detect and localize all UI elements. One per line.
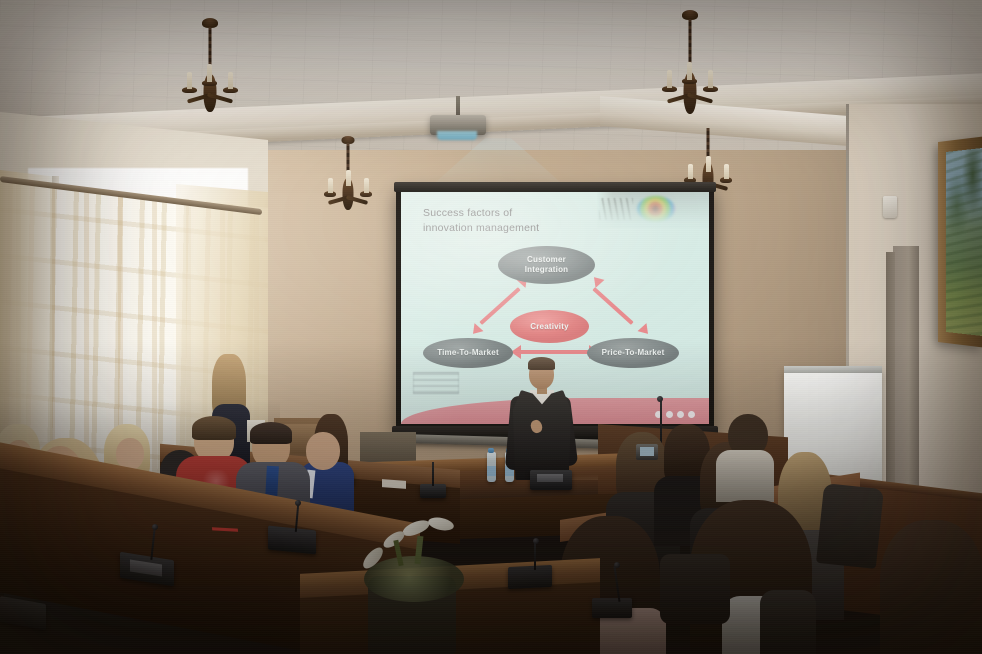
- slide-dot: [666, 411, 673, 418]
- microphone-console[interactable]: [508, 565, 552, 589]
- chandelier-candle-bulb: [328, 178, 333, 193]
- chandelier: [320, 136, 376, 226]
- chandelier-candle-bulb: [187, 72, 192, 89]
- diagram-node-price-to-market: Price-To-Market: [587, 338, 679, 368]
- audience-head-foreground: [880, 520, 982, 654]
- chandelier-candle-bulb: [688, 164, 693, 179]
- microphone-stem: [660, 400, 662, 446]
- camera-screen: [640, 447, 654, 456]
- node-label: Creativity: [530, 322, 568, 332]
- microphone-head: [657, 396, 663, 402]
- painting-foliage: [946, 148, 982, 336]
- wall-speaker-box: [883, 196, 897, 218]
- chandelier-candle-bulb: [207, 64, 212, 82]
- audience-light-blouse: [716, 450, 774, 502]
- microphone-console[interactable]: [268, 525, 316, 554]
- doorway-recess-shadow: [886, 252, 895, 496]
- chandelier: [175, 18, 245, 128]
- slide-title-line-1: Success factors of: [423, 206, 613, 221]
- microphone-console[interactable]: [592, 598, 632, 618]
- projector-lens-icon: [437, 131, 477, 140]
- node-label: Time-To-Market: [437, 348, 499, 358]
- node-label-line-2: Integration: [525, 265, 569, 274]
- audience-hair: [250, 422, 292, 444]
- chandelier-candle-bulb: [364, 178, 369, 193]
- eye-photo-fade: [597, 192, 709, 228]
- arrow-head: [469, 323, 484, 338]
- microphone-head: [614, 562, 620, 568]
- slide-title-line-2: innovation management: [423, 221, 613, 236]
- chandelier-candle-bulb: [708, 70, 713, 88]
- arrow-head: [638, 323, 653, 338]
- chandelier-candle-bulb: [706, 156, 711, 172]
- microphone-head: [533, 538, 539, 544]
- microphone-head: [152, 524, 158, 530]
- chair-back: [816, 483, 884, 569]
- diagram-node-customer-integration: Customer Integration: [498, 246, 595, 284]
- slide-dot: [677, 411, 684, 418]
- screen-top-bar: [394, 182, 716, 192]
- node-label: Price-To-Market: [602, 348, 665, 358]
- chandelier-candle-bulb: [724, 164, 729, 179]
- node-label-line-1: Customer: [527, 255, 566, 264]
- arrow-head: [590, 273, 605, 288]
- microphone-console[interactable]: [420, 484, 446, 498]
- photo-scene: Success factors of innovation management…: [0, 0, 982, 654]
- arrow-time-to-market-to-price-to-market: [519, 350, 591, 354]
- slide-title: Success factors of innovation management: [423, 206, 613, 236]
- microphone-console-panel: [537, 474, 563, 482]
- chandelier-candle-bulb: [687, 62, 692, 80]
- audience-head: [306, 432, 340, 470]
- bottle-label: [487, 466, 496, 476]
- flipchart-clamp: [784, 366, 882, 373]
- audience-torso: [760, 590, 816, 654]
- slide-eye-photo-icon: [597, 192, 709, 228]
- doorway-recess: [893, 246, 919, 496]
- microphone-stem: [534, 542, 536, 570]
- notepad: [382, 479, 406, 489]
- chandelier-candle-bulb: [667, 70, 672, 88]
- microphone-stem: [432, 462, 434, 486]
- microphone-head: [295, 500, 301, 506]
- chair-back: [660, 554, 730, 624]
- slide-dot: [688, 411, 695, 418]
- chandelier-candle-bulb: [228, 72, 233, 89]
- diagram-node-time-to-market: Time-To-Market: [423, 338, 513, 368]
- audience-hair: [192, 416, 236, 440]
- diagram-node-creativity: Creativity: [510, 310, 589, 343]
- slide-corner-logo: [413, 372, 459, 394]
- bottle-cap: [488, 448, 494, 453]
- chandelier: [655, 10, 725, 130]
- arrow-creativity-to-price-to-market: [592, 287, 633, 325]
- presentation-slide: Success factors of innovation management…: [401, 192, 709, 424]
- presenter-hair: [528, 357, 555, 370]
- chandelier-candle-bulb: [346, 170, 351, 186]
